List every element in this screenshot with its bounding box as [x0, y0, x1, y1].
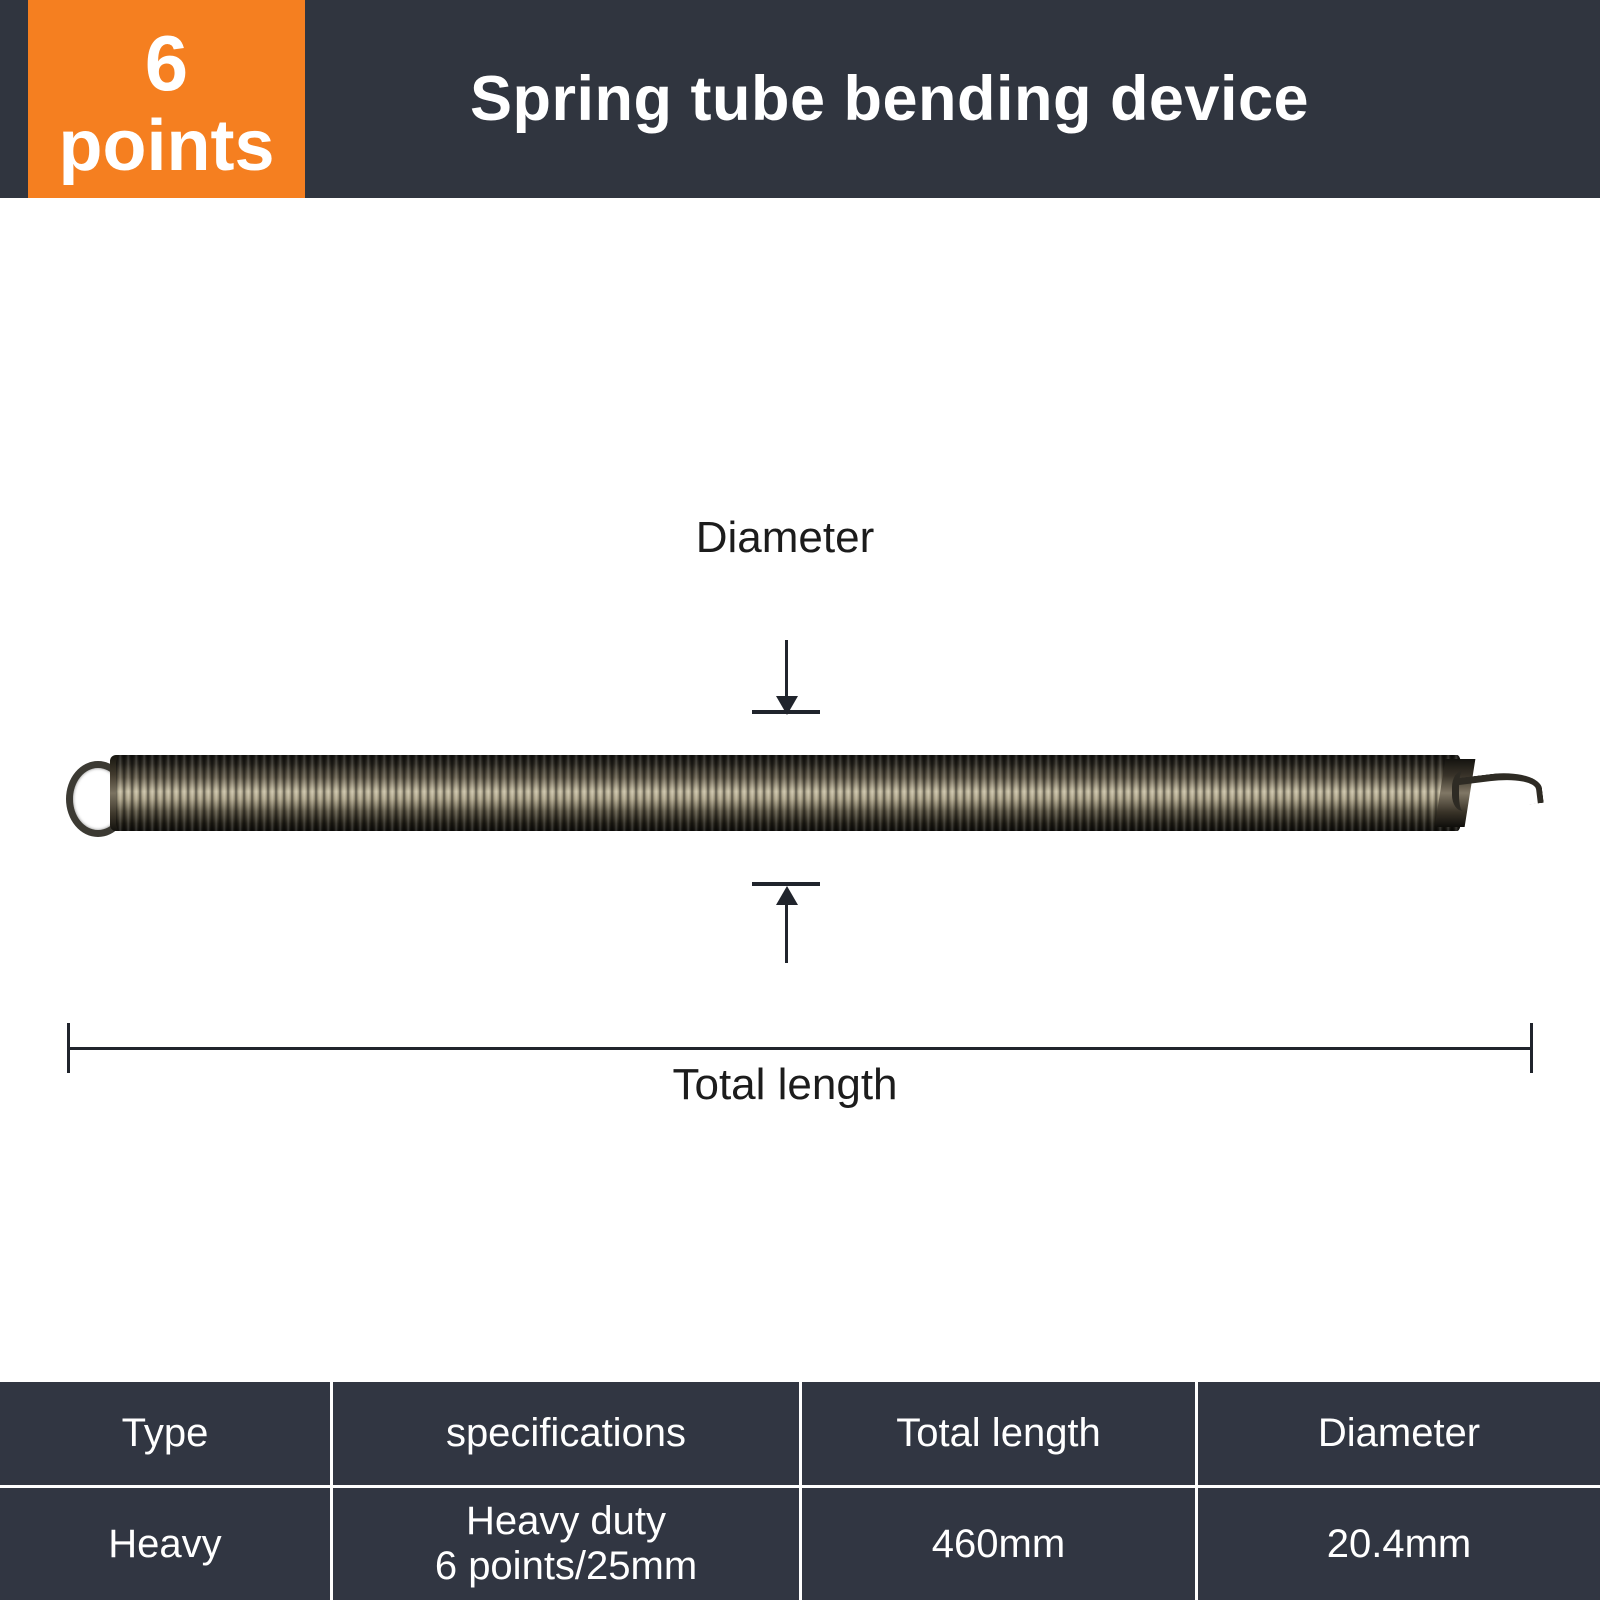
spec-table: Type specifications Total length Diamete… — [0, 1382, 1600, 1600]
total-length-annotation-label: Total length — [585, 1060, 985, 1110]
column-header-specifications: specifications — [333, 1382, 802, 1488]
cell-specifications: Heavy duty 6 points/25mm — [333, 1488, 802, 1600]
column-header-diameter: Diameter — [1198, 1382, 1600, 1488]
arrow-down-icon — [785, 640, 788, 698]
column-header-type: Type — [0, 1382, 333, 1488]
spring-coil-image — [60, 743, 1540, 853]
product-diagram: Diameter Total length — [0, 198, 1600, 1382]
cell-type: Heavy — [0, 1488, 333, 1600]
column-header-total-length: Total length — [802, 1382, 1198, 1488]
diameter-annotation-label: Diameter — [585, 513, 985, 563]
table-row: Heavy Heavy duty 6 points/25mm 460mm 20.… — [0, 1488, 1600, 1600]
badge-number: 6 — [145, 20, 188, 106]
cell-total-length: 460mm — [802, 1488, 1198, 1600]
diameter-tick-top — [752, 710, 820, 714]
page-title: Spring tube bending device — [470, 0, 1470, 198]
badge-label: points — [59, 106, 275, 186]
arrow-up-icon — [785, 905, 788, 963]
dimension-cap-right — [1530, 1023, 1533, 1073]
table-header-row: Type specifications Total length Diamete… — [0, 1382, 1600, 1488]
spring-coil-body — [116, 755, 1461, 831]
dimension-line-icon — [67, 1047, 1533, 1050]
cell-diameter: 20.4mm — [1198, 1488, 1600, 1600]
